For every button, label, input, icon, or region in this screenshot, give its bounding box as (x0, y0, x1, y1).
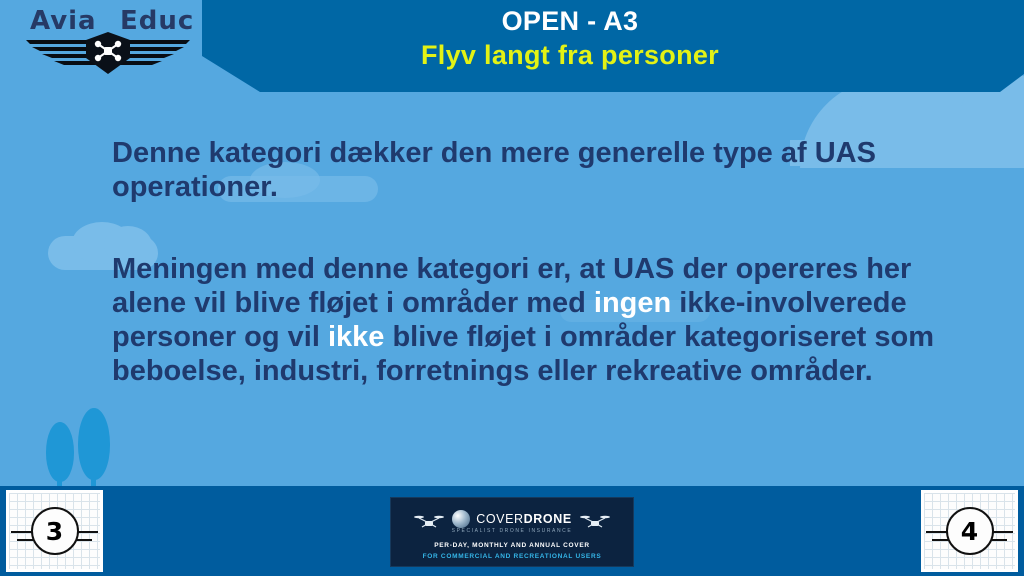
page-number-circle: 3 (31, 507, 79, 555)
winged-drone-shield-icon (8, 4, 208, 78)
page-subtitle: Flyv langt fra personer (220, 38, 920, 72)
page-number-box-right: 4 (921, 490, 1018, 572)
sponsor-line-one: PER-DAY, MONTHLY AND ANNUAL COVER (391, 542, 633, 549)
paragraph-one: Denne kategori dækker den mere generelle… (112, 136, 992, 204)
highlight-ikke: ikke (328, 321, 384, 353)
paragraph-two: Meningen med denne kategori er, at UAS d… (112, 252, 992, 388)
page-number-left: 3 (46, 517, 63, 546)
brand-logo: Avia Educ (8, 4, 208, 78)
highlight-ingen: ingen (594, 287, 671, 319)
page-title: OPEN - A3 (220, 4, 920, 38)
sponsor-name-part2: DRONE (524, 512, 572, 526)
sponsor-tagline: SPECIALIST DRONE INSURANCE (391, 528, 633, 534)
sponsor-banner-coverdrone[interactable]: COVERDRONE SPECIALIST DRONE INSURANCE PE… (390, 497, 634, 567)
sponsor-logo-row: COVERDRONE (391, 510, 633, 528)
page-number-circle: 4 (946, 507, 994, 555)
page-number-box-left: 3 (6, 490, 103, 572)
sponsor-line-two: FOR COMMERCIAL AND RECREATIONAL USERS (391, 553, 633, 560)
page-number-right: 4 (961, 517, 978, 546)
header-text-group: OPEN - A3 Flyv langt fra personer (220, 4, 920, 72)
sponsor-wordmark: COVERDRONE (476, 512, 572, 526)
sponsor-name-part1: COVER (476, 512, 523, 526)
slide-canvas: OPEN - A3 Flyv langt fra personer Avia E… (0, 0, 1024, 576)
coverdrone-sphere-icon (452, 510, 470, 528)
